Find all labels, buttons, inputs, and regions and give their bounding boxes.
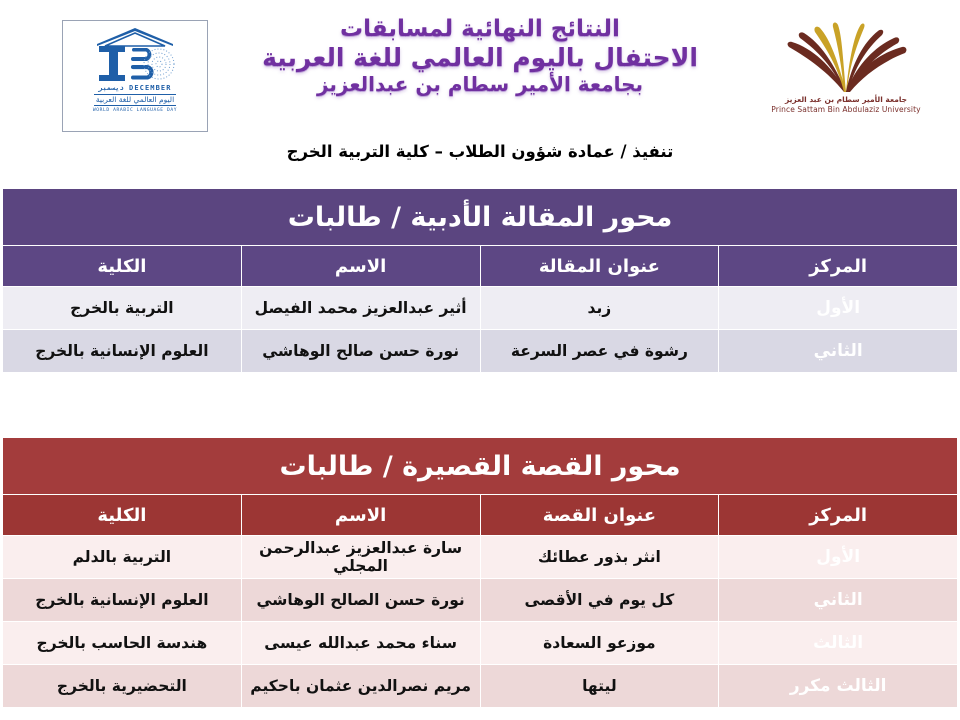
cell-college: التربية بالدلم [3,536,242,579]
cell-work-title: انثر بذور عطائك [480,536,719,579]
page-header: DECEMBER ديسمبر اليوم العالمي للغة العرب… [0,0,960,186]
table-header-row: المركز عنوان القصة الاسم الكلية [3,495,958,536]
column-header-college: الكلية [3,246,242,287]
essay-table-caption: محور المقالة الأدبية / طالبات [3,189,958,246]
table-row: الأول زبد أثير عبدالعزيز محمد الفيصل الت… [3,287,958,330]
column-header-title: عنوان القصة [480,495,719,536]
cell-work-title: زبد [480,287,719,330]
cell-name: أثير عبدالعزيز محمد الفيصل [241,287,480,330]
cell-rank: الثاني [719,579,958,622]
title-line-3: بجامعة الأمير سطام بن عبدالعزيز [212,73,748,97]
essay-results-table: محور المقالة الأدبية / طالبات المركز عنو… [2,188,958,373]
cell-name: سارة عبدالعزيز عبدالرحمن المجلي [241,536,480,579]
table-row: الأول انثر بذور عطائك سارة عبدالعزيز عبد… [3,536,958,579]
column-header-name: الاسم [241,495,480,536]
open-book-fan-icon [748,22,944,94]
column-header-rank: المركز [719,495,958,536]
wald-emblem [89,27,181,83]
column-header-rank: المركز [719,246,958,287]
column-header-title: عنوان المقالة [480,246,719,287]
cell-college: التحضيرية بالخرج [3,665,242,708]
cell-college: العلوم الإنسانية بالخرج [3,579,242,622]
eighteen-numeral-icon [97,44,175,83]
cell-name: سناء محمد عبدالله عيسى [241,622,480,665]
column-header-college: الكلية [3,495,242,536]
wald-december-label: DECEMBER ديسمبر [98,84,171,92]
cell-work-title: موزعو السعادة [480,622,719,665]
cell-rank: الأول [719,536,958,579]
cell-rank: الثاني [719,330,958,373]
title-line-2: الاحتفال باليوم العالمي للغة العربية [212,43,748,73]
psau-arabic-label: جامعة الأمير سطام بن عبد العزيز [748,95,944,104]
cell-rank: الثالث [719,622,958,665]
main-title: النتائج النهائية لمسابقات الاحتفال باليو… [212,16,748,96]
cell-rank: الأول [719,287,958,330]
world-arabic-language-day-logo: DECEMBER ديسمبر اليوم العالمي للغة العرب… [62,20,208,132]
table-row: الثاني كل يوم في الأقصى نورة حسن الصالح … [3,579,958,622]
cell-college: هندسة الحاسب بالخرج [3,622,242,665]
column-header-name: الاسم [241,246,480,287]
wald-arabic-label: اليوم العالمي للغة العربية [94,94,176,106]
cell-name: مريم نصرالدين عثمان باحكيم [241,665,480,708]
short-story-results-table: محور القصة القصيرة / طالبات المركز عنوان… [2,437,958,708]
cell-college: التربية بالخرج [3,287,242,330]
short-story-table-wrap: محور القصة القصيرة / طالبات المركز عنوان… [2,437,958,708]
cell-name: نورة حسن صالح الوهاشي [241,330,480,373]
table-caption-row: محور القصة القصيرة / طالبات [3,438,958,495]
cell-work-title: كل يوم في الأقصى [480,579,719,622]
table-row: الثالث مكرر ليتها مريم نصرالدين عثمان با… [3,665,958,708]
short-story-table-caption: محور القصة القصيرة / طالبات [3,438,958,495]
wald-english-label: WORLD ARABIC LANGUAGE DAY [93,108,177,113]
cell-college: العلوم الإنسانية بالخرج [3,330,242,373]
cell-name: نورة حسن الصالح الوهاشي [241,579,480,622]
table-row: الثالث موزعو السعادة سناء محمد عبدالله ع… [3,622,958,665]
prince-sattam-university-logo: جامعة الأمير سطام بن عبد العزيز Prince S… [748,22,944,130]
organizer-subtitle: تنفيذ / عمادة شؤون الطلاب – كلية التربية… [0,142,960,161]
title-line-1: النتائج النهائية لمسابقات [212,16,748,43]
table-caption-row: محور المقالة الأدبية / طالبات [3,189,958,246]
cell-rank: الثالث مكرر [719,665,958,708]
cell-work-title: ليتها [480,665,719,708]
essay-table-wrap: محور المقالة الأدبية / طالبات المركز عنو… [2,188,958,373]
psau-english-label: Prince Sattam Bin Abdulaziz University [748,105,944,114]
cell-work-title: رشوة في عصر السرعة [480,330,719,373]
table-header-row: المركز عنوان المقالة الاسم الكلية [3,246,958,287]
table-row: الثاني رشوة في عصر السرعة نورة حسن صالح … [3,330,958,373]
